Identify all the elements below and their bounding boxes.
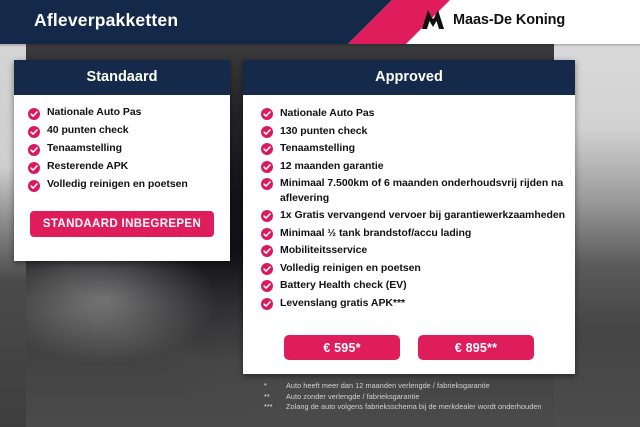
footnote-text: Auto zonder verlengde / fabrieksgarantie (286, 392, 636, 403)
list-item: Volledig reinigen en poetsen (243, 261, 575, 276)
check-circle-icon (28, 108, 40, 120)
page-header: Afleverpakketten Maas-De Koning (0, 0, 640, 44)
list-item: Mobiliteitsservice (243, 243, 575, 258)
footnote-text: Auto heeft meer dan 12 maanden verlengde… (286, 381, 636, 392)
check-circle-icon (261, 126, 273, 138)
check-circle-icon (261, 280, 273, 292)
brand-logo: Maas-De Koning (421, 9, 565, 31)
page-title: Afleverpakketten (34, 10, 178, 31)
feature-label: 12 maanden garantie (280, 159, 384, 174)
list-item: 12 maanden garantie (243, 159, 575, 174)
maas-de-koning-m-mark-icon (421, 9, 445, 31)
check-circle-icon (261, 298, 273, 310)
list-item: Nationale Auto Pas (14, 106, 230, 120)
approved-card-heading: Approved (243, 60, 575, 95)
price-button[interactable]: € 895** (418, 335, 534, 360)
check-circle-icon (261, 108, 273, 120)
check-circle-icon (28, 180, 40, 192)
feature-label: 40 punten check (47, 124, 129, 137)
footnotes: *Auto heeft meer dan 12 maanden verlengd… (264, 381, 636, 413)
feature-label: Levenslang gratis APK*** (280, 296, 405, 311)
list-item: 130 punten check (243, 124, 575, 139)
feature-label: 1x Gratis vervangend vervoer bij garanti… (280, 208, 565, 223)
footnote-mark: * (264, 381, 286, 392)
list-item: Minimaal ½ tank brandstof/accu lading (243, 226, 575, 241)
footnote: *Auto heeft meer dan 12 maanden verlengd… (264, 381, 636, 392)
feature-label: Volledig reinigen en poetsen (47, 178, 188, 191)
standard-package-card: Standaard Nationale Auto Pas40 punten ch… (14, 60, 230, 261)
feature-label: Resterende APK (47, 160, 128, 173)
list-item: 1x Gratis vervangend vervoer bij garanti… (243, 208, 575, 223)
check-circle-icon (28, 162, 40, 174)
list-item: Tenaamstelling (14, 142, 230, 156)
header-shadow (0, 44, 640, 47)
footnote: **Auto zonder verlengde / fabrieksgarant… (264, 392, 636, 403)
approved-price-row: € 595*€ 895** (243, 335, 575, 360)
check-circle-icon (261, 143, 273, 155)
feature-label: Nationale Auto Pas (280, 106, 374, 121)
standard-feature-list: Nationale Auto Pas40 punten checkTenaams… (14, 95, 230, 192)
brand-name: Maas-De Koning (453, 12, 565, 28)
check-circle-icon (261, 161, 273, 173)
check-circle-icon (28, 126, 40, 138)
feature-label: Mobiliteitsservice (280, 243, 367, 258)
check-circle-icon (261, 245, 273, 257)
list-item: Levenslang gratis APK*** (243, 296, 575, 311)
list-item: Resterende APK (14, 160, 230, 174)
list-item: Nationale Auto Pas (243, 106, 575, 121)
feature-label: Tenaamstelling (47, 142, 122, 155)
feature-label: Minimaal 7.500km of 6 maanden onderhouds… (280, 176, 565, 205)
check-circle-icon (261, 263, 273, 275)
list-item: Tenaamstelling (243, 141, 575, 156)
price-button[interactable]: € 595* (284, 335, 400, 360)
footnote-text: Zolang de auto volgens fabrieksschema bi… (286, 402, 636, 413)
feature-label: Battery Health check (EV) (280, 278, 407, 293)
list-item: Battery Health check (EV) (243, 278, 575, 293)
standaard-inbegrepen-button[interactable]: STANDAARD INBEGREPEN (30, 211, 214, 237)
list-item: Minimaal 7.500km of 6 maanden onderhouds… (243, 176, 575, 205)
standard-card-heading: Standaard (14, 60, 230, 95)
feature-label: 130 punten check (280, 124, 367, 139)
feature-label: Minimaal ½ tank brandstof/accu lading (280, 226, 471, 241)
list-item: 40 punten check (14, 124, 230, 138)
feature-label: Tenaamstelling (280, 141, 355, 156)
afleverpakketten-page: Afleverpakketten Maas-De Koning Standaar… (0, 0, 640, 427)
check-circle-icon (261, 228, 273, 240)
approved-package-card: Approved Nationale Auto Pas130 punten ch… (243, 60, 575, 374)
feature-label: Nationale Auto Pas (47, 106, 141, 119)
list-item: Volledig reinigen en poetsen (14, 178, 230, 192)
footnote: ***Zolang de auto volgens fabrieksschema… (264, 402, 636, 413)
footnote-mark: ** (264, 392, 286, 403)
footnote-mark: *** (264, 402, 286, 413)
approved-feature-list: Nationale Auto Pas130 punten checkTenaam… (243, 95, 575, 310)
feature-label: Volledig reinigen en poetsen (280, 261, 421, 276)
check-circle-icon (261, 210, 273, 222)
check-circle-icon (261, 178, 273, 190)
check-circle-icon (28, 144, 40, 156)
